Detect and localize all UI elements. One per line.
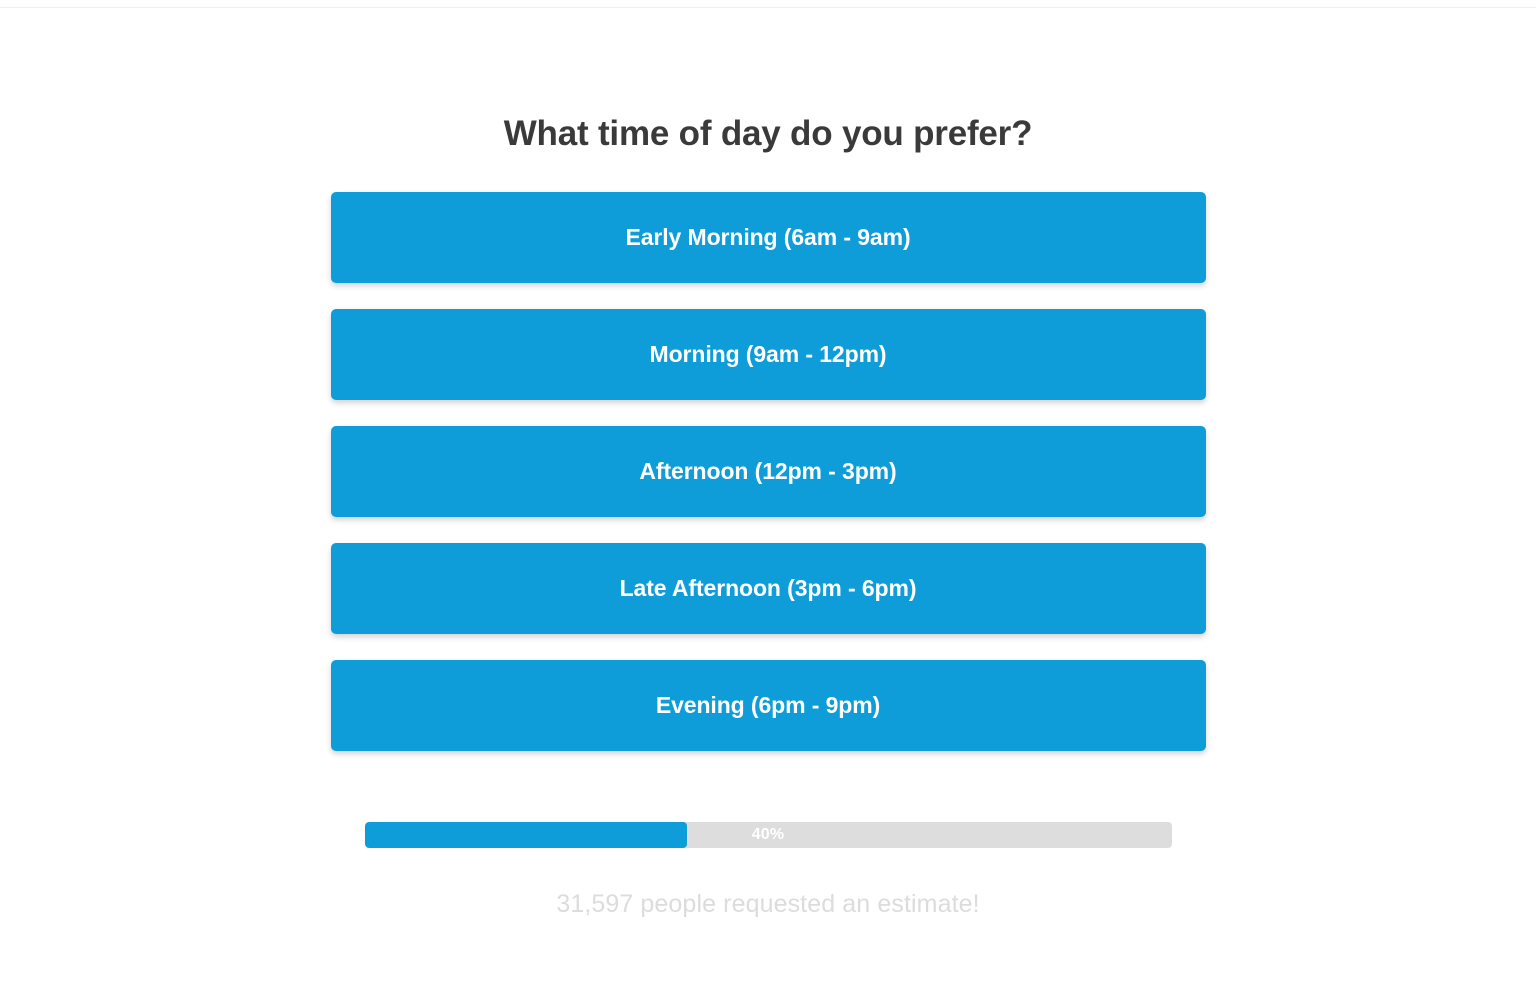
survey-container: What time of day do you prefer? Early Mo…: [0, 0, 1536, 1008]
survey-page: What time of day do you prefer? Early Mo…: [0, 0, 1536, 1008]
option-button-afternoon[interactable]: Afternoon (12pm - 3pm): [331, 426, 1206, 517]
option-button-early-morning[interactable]: Early Morning (6am - 9am): [331, 192, 1206, 283]
option-button-evening[interactable]: Evening (6pm - 9pm): [331, 660, 1206, 751]
social-proof-text: 31,597 people requested an estimate!: [331, 890, 1206, 919]
progress-fill: [365, 822, 688, 848]
option-button-late-afternoon[interactable]: Late Afternoon (3pm - 6pm): [331, 543, 1206, 634]
page-title: What time of day do you prefer?: [331, 113, 1206, 155]
option-button-morning[interactable]: Morning (9am - 12pm): [331, 309, 1206, 400]
answer-options-list: Early Morning (6am - 9am) Morning (9am -…: [331, 192, 1206, 751]
progress-bar: 40%: [365, 822, 1172, 848]
progress-track: [365, 822, 1172, 848]
